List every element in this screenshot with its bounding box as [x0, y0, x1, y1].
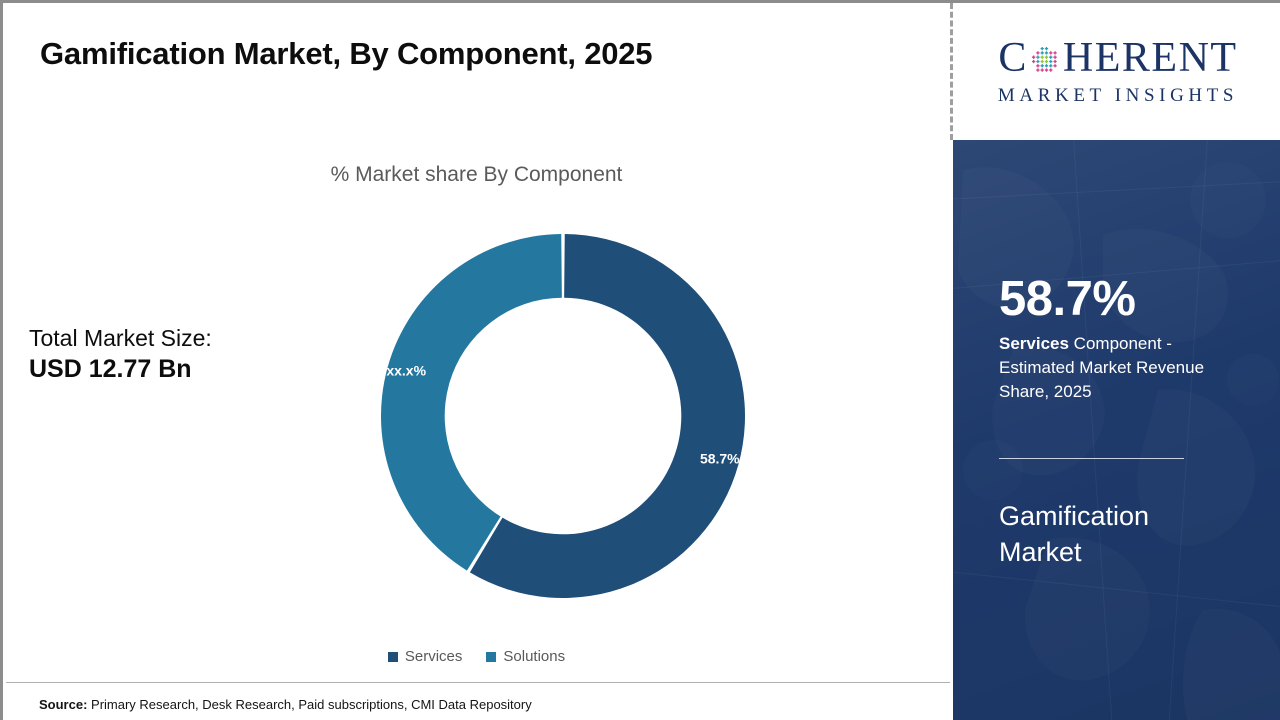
slice-label-services: 58.7%	[700, 451, 740, 467]
legend-label-services: Services	[405, 648, 463, 665]
legend-item-services[interactable]: Services	[388, 648, 463, 665]
brand-name-part1: C	[998, 37, 1028, 79]
chart-legend: Services Solutions	[3, 648, 950, 665]
stat-description-emphasis: Services	[999, 334, 1069, 353]
brand-logo[interactable]: C HERENT MARKET INSIGHTS	[953, 3, 1280, 140]
globe-icon	[1029, 43, 1062, 76]
source-text: Primary Research, Desk Research, Paid su…	[87, 697, 531, 712]
panel-divider	[999, 458, 1184, 459]
source-label: Source:	[39, 697, 87, 712]
donut-chart: 58.7% xx.x%	[381, 234, 745, 598]
legend-label-solutions: Solutions	[503, 648, 565, 665]
highlight-panel: 58.7% Services Component - Estimated Mar…	[953, 140, 1280, 720]
infographic-root: Gamification Market, By Component, 2025 …	[0, 0, 1280, 720]
brand-wordmark: C HERENT	[998, 37, 1237, 79]
chart-subtitle: % Market share By Component	[3, 163, 950, 187]
total-market-size-value: USD 12.77 Bn	[29, 355, 212, 385]
brand-name-part2: HERENT	[1063, 37, 1238, 79]
highlight-panel-content: 58.7% Services Component - Estimated Mar…	[999, 140, 1239, 720]
source-note: Source: Primary Research, Desk Research,…	[39, 697, 532, 712]
panel-market-name: Gamification Market	[999, 498, 1229, 571]
page-title: Gamification Market, By Component, 2025	[40, 36, 652, 72]
total-market-size-block: Total Market Size: USD 12.77 Bn	[29, 325, 212, 385]
total-market-size-label: Total Market Size:	[29, 325, 212, 352]
main-content-pane: Gamification Market, By Component, 2025 …	[3, 3, 950, 720]
side-rail: C HERENT MARKET INSIGHTS	[953, 3, 1280, 720]
legend-item-solutions[interactable]: Solutions	[486, 648, 565, 665]
legend-swatch-solutions	[486, 652, 496, 662]
footer-divider	[6, 682, 950, 683]
slice-label-solutions: xx.x%	[386, 363, 426, 379]
legend-swatch-services	[388, 652, 398, 662]
brand-tagline: MARKET INSIGHTS	[998, 85, 1238, 107]
stat-number: 58.7%	[999, 275, 1135, 324]
stat-description: Services Component - Estimated Market Re…	[999, 332, 1224, 404]
donut-slice-solutions[interactable]	[381, 234, 562, 571]
donut-chart-svg: 58.7% xx.x%	[381, 234, 745, 598]
